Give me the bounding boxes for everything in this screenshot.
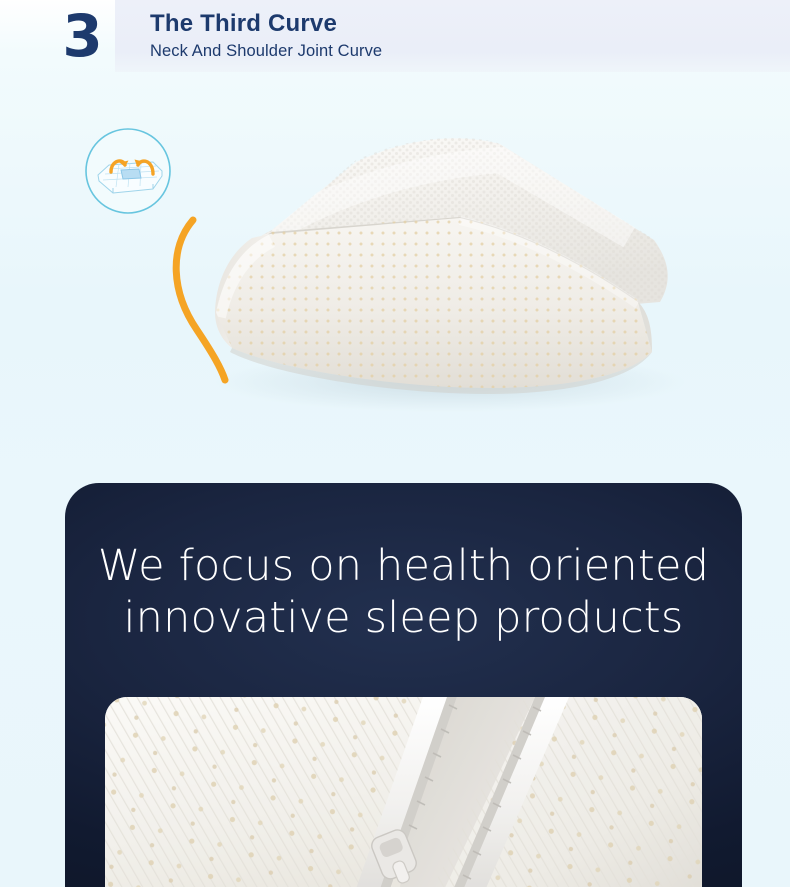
promo-headline-line-2: innovative sleep products [65, 592, 742, 644]
promo-panel: We focus on health oriented innovative s… [65, 483, 742, 887]
promo-headline-line-1: We focus on health oriented [65, 540, 742, 592]
page-title: The Third Curve [150, 9, 382, 39]
section-number: 3 [57, 0, 107, 72]
promo-headline: We focus on health oriented innovative s… [65, 540, 742, 644]
section-header: 3 The Third Curve Neck And Shoulder Join… [0, 0, 790, 73]
product-detail-page: 3 The Third Curve Neck And Shoulder Join… [0, 0, 790, 887]
orange-pointer-curve-icon [155, 200, 265, 400]
page-subtitle: Neck And Shoulder Joint Curve [150, 39, 382, 63]
header-text-group: The Third Curve Neck And Shoulder Joint … [150, 9, 382, 63]
pillow-zipper-closeup-photo [105, 697, 702, 887]
